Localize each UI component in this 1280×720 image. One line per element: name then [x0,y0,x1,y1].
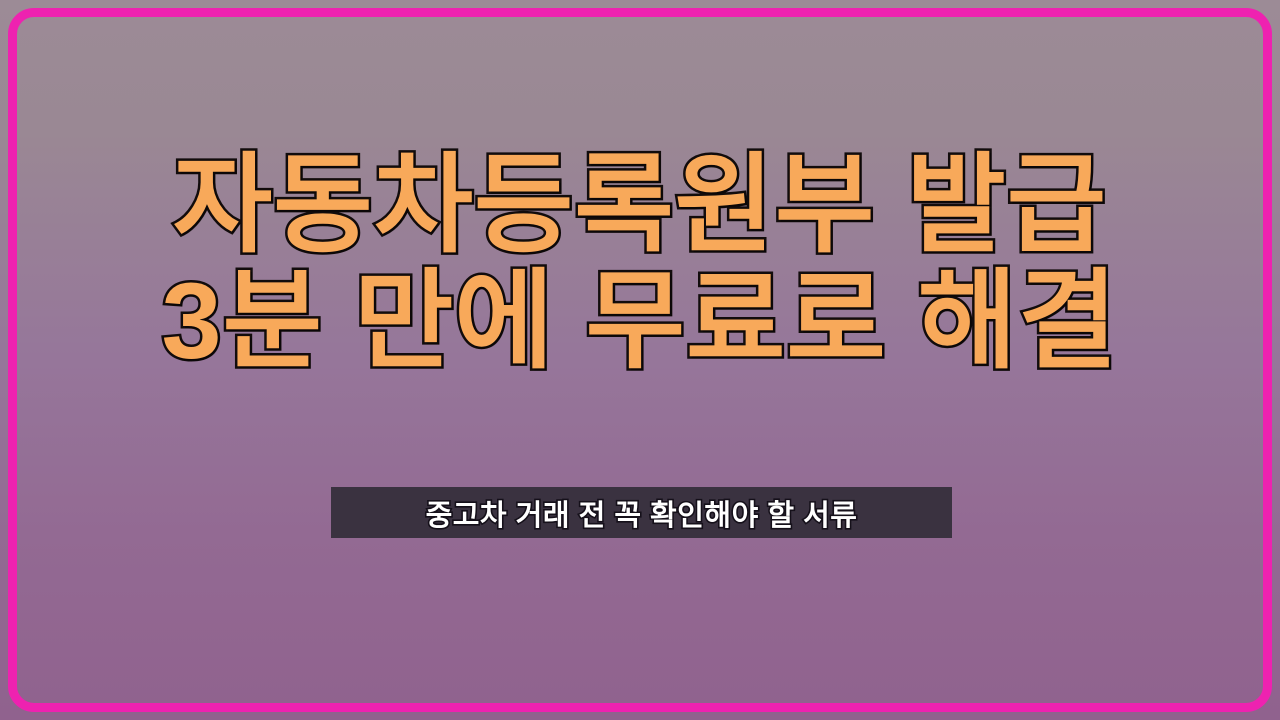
headline-line-1: 자동차등록원부 발급 [0,151,1280,259]
headline-line-2: 3분 만에 무료로 해결 [0,267,1280,375]
subtitle-text: 중고차 거래 전 꼭 확인해야 할 서류 [426,492,858,534]
title-card-slide: 자동차등록원부 발급 3분 만에 무료로 해결 중고차 거래 전 꼭 확인해야 … [0,0,1280,720]
slide-content: 자동차등록원부 발급 3분 만에 무료로 해결 [0,0,1280,720]
subtitle-banner: 중고차 거래 전 꼭 확인해야 할 서류 [331,487,952,538]
headline-block: 자동차등록원부 발급 3분 만에 무료로 해결 [0,151,1280,375]
